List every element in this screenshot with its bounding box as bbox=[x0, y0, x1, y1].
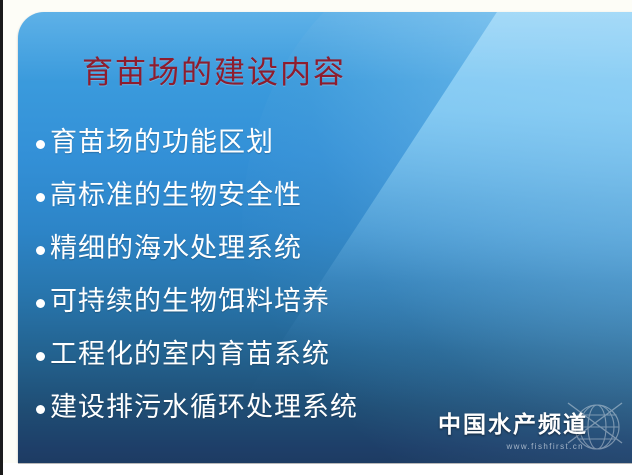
list-item: 工程化的室内育苗系统 bbox=[36, 328, 596, 381]
list-item-label: 工程化的室内育苗系统 bbox=[50, 328, 330, 381]
bullet-dot-icon bbox=[36, 405, 45, 414]
list-item-label: 高标准的生物安全性 bbox=[50, 169, 302, 222]
bullet-dot-icon bbox=[36, 193, 45, 202]
bullet-list: 育苗场的功能区划 高标准的生物安全性 精细的海水处理系统 可持续的生物饵料培养 … bbox=[36, 116, 596, 434]
bullet-dot-icon bbox=[36, 140, 45, 149]
bullet-dot-icon bbox=[36, 299, 45, 308]
list-item: 育苗场的功能区划 bbox=[36, 116, 596, 169]
presentation-slide: 育苗场的建设内容 育苗场的功能区划 高标准的生物安全性 精细的海水处理系统 可持… bbox=[0, 0, 632, 475]
left-edge-rule bbox=[0, 0, 3, 475]
slide-content-panel: 育苗场的建设内容 育苗场的功能区划 高标准的生物安全性 精细的海水处理系统 可持… bbox=[18, 12, 632, 463]
list-item-label: 精细的海水处理系统 bbox=[50, 222, 302, 275]
bullet-dot-icon bbox=[36, 246, 45, 255]
list-item: 建设排污水循环处理系统 bbox=[36, 381, 596, 434]
list-item: 精细的海水处理系统 bbox=[36, 222, 596, 275]
slide-bottom-strip bbox=[3, 463, 632, 475]
panel-bottom-hairline bbox=[18, 463, 632, 464]
list-item: 可持续的生物饵料培养 bbox=[36, 275, 596, 328]
list-item-label: 可持续的生物饵料培养 bbox=[50, 275, 330, 328]
list-item-label: 建设排污水循环处理系统 bbox=[50, 381, 358, 434]
slide-title: 育苗场的建设内容 bbox=[82, 56, 346, 90]
bullet-dot-icon bbox=[36, 352, 45, 361]
watermark-url-text: www.fishfirst.cn bbox=[506, 442, 584, 451]
list-item-label: 育苗场的功能区划 bbox=[50, 116, 274, 169]
list-item: 高标准的生物安全性 bbox=[36, 169, 596, 222]
